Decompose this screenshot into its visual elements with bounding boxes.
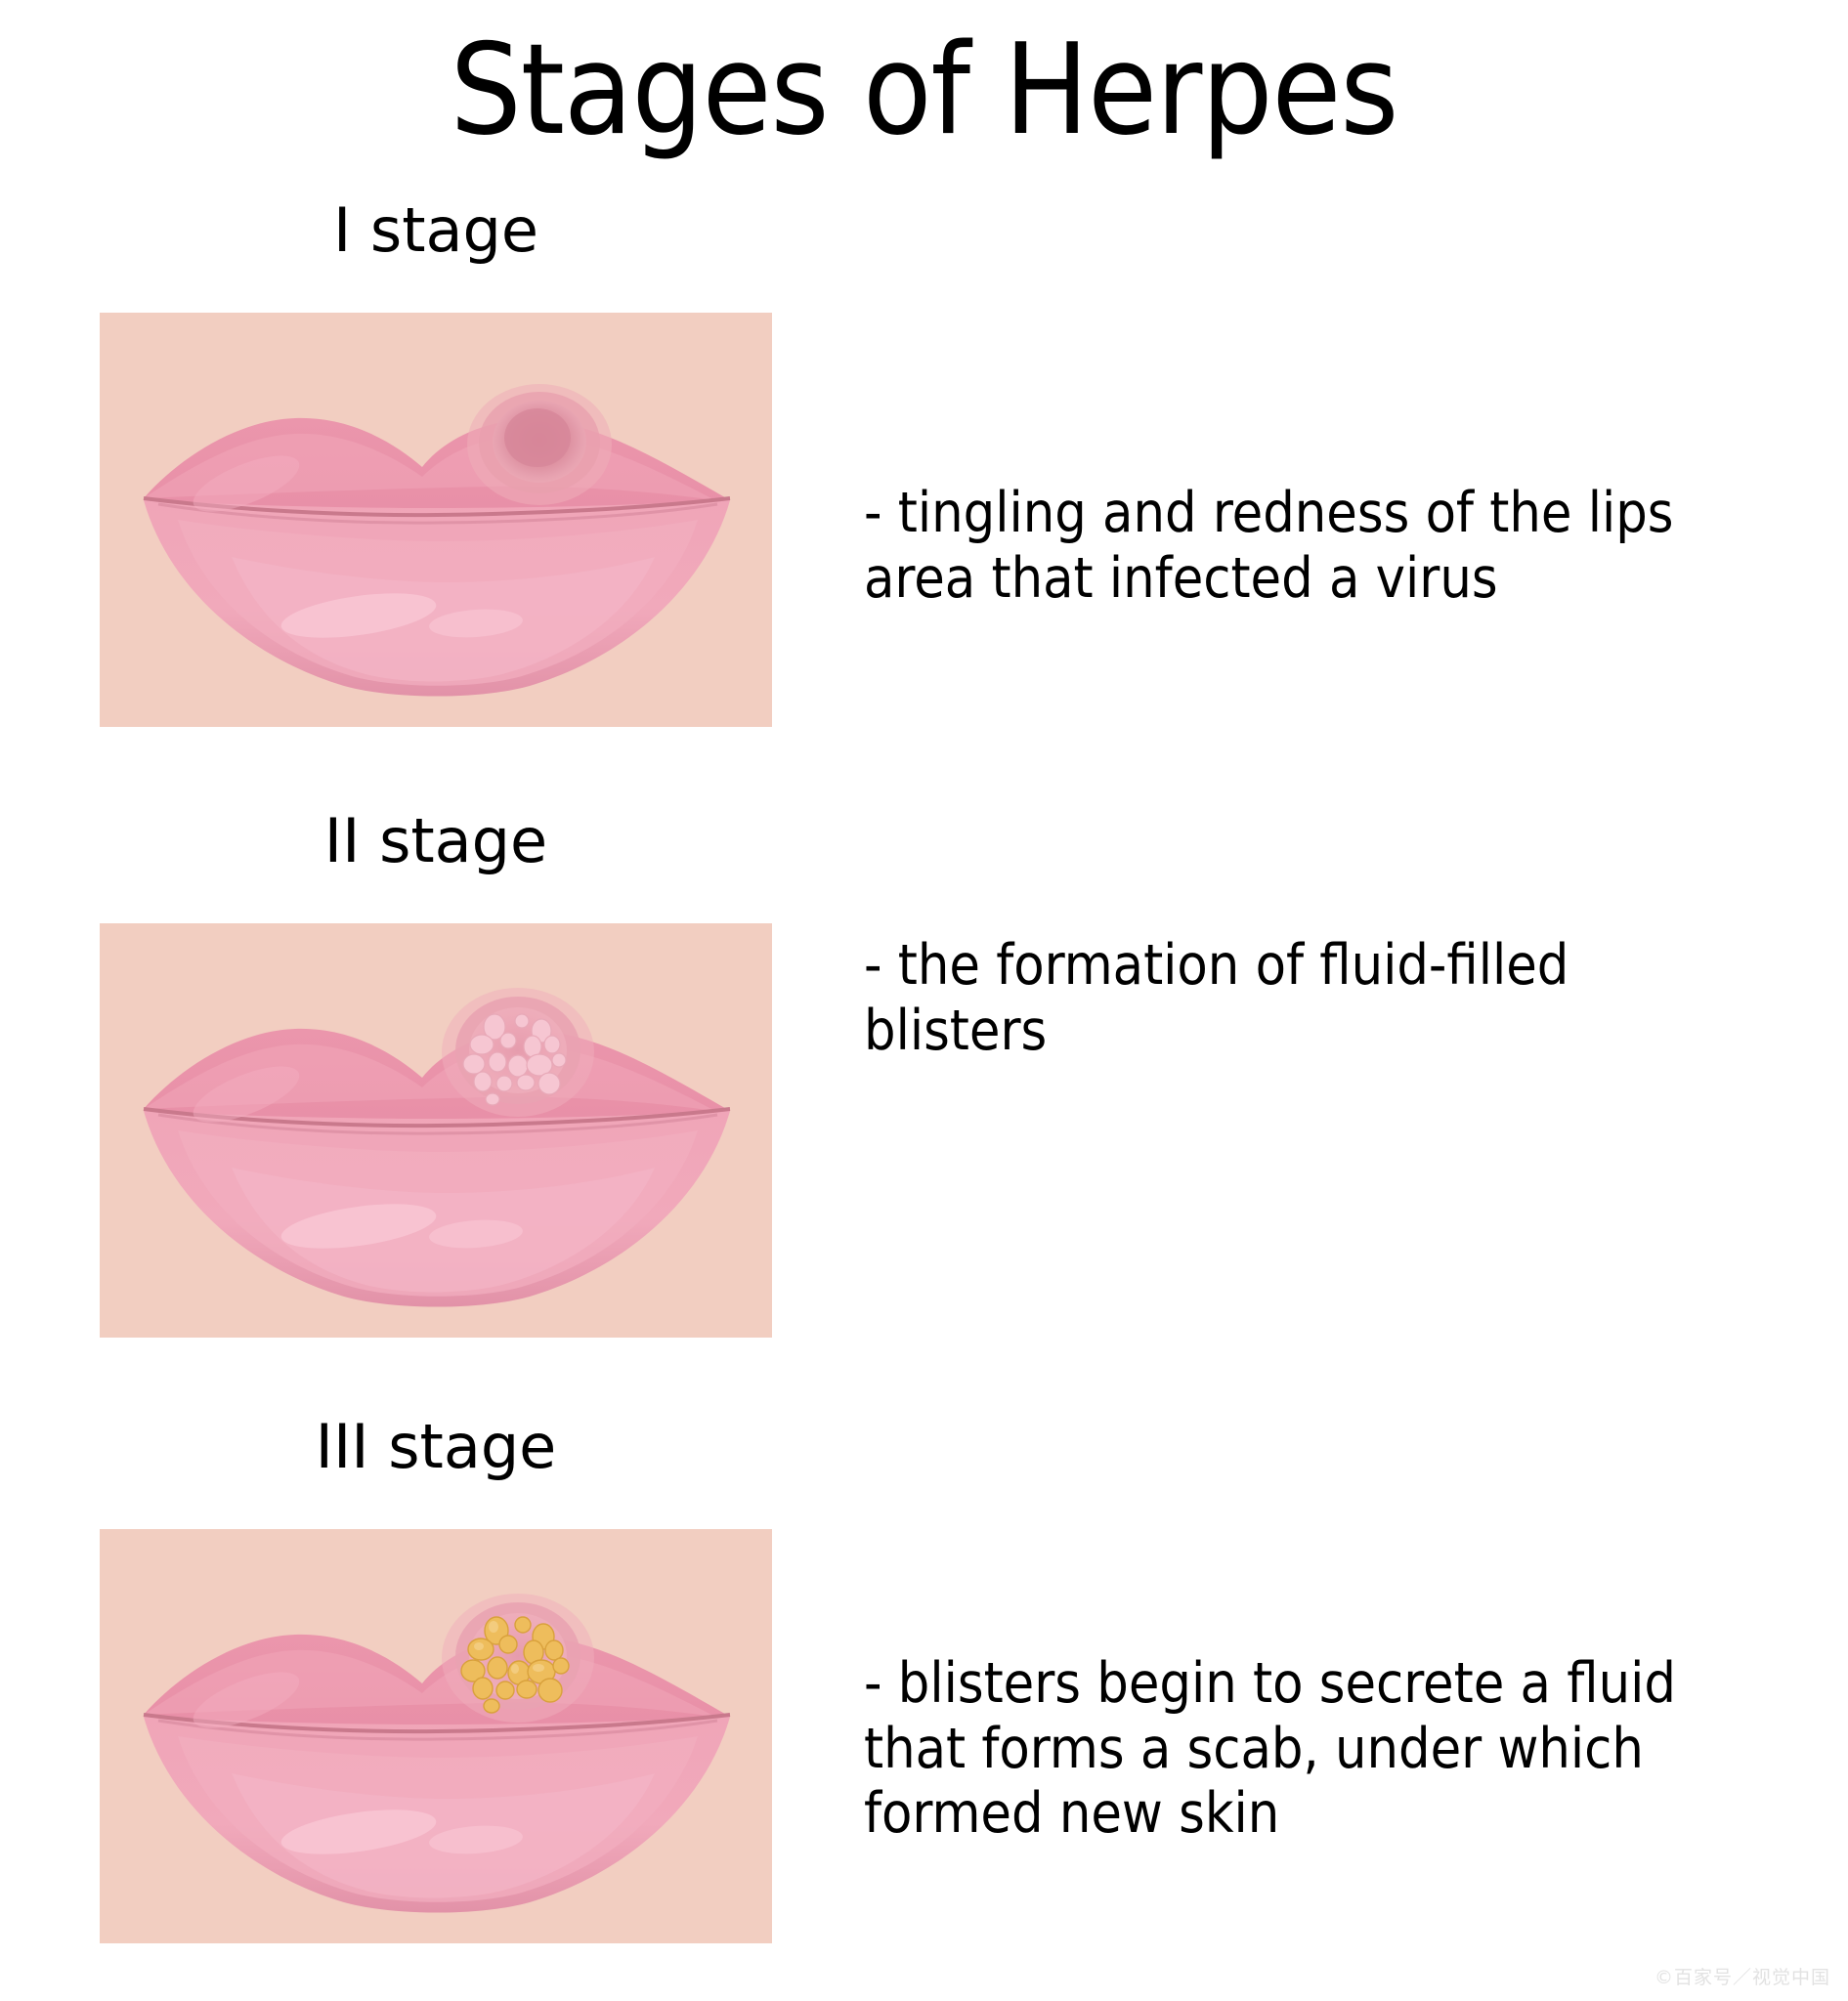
page-title: Stages of Herpes (0, 25, 1848, 156)
stage-label-2: II stage (100, 811, 772, 872)
watermark: ©百家号／视觉中国 (1655, 1963, 1830, 1989)
lips-illustration-1 (100, 313, 772, 727)
stage-image-3 (100, 1529, 772, 1943)
lesion-stage-2 (442, 988, 594, 1117)
lips-illustration-2 (100, 923, 772, 1338)
stage-description-3: - blisters begin to secrete a fluid that… (864, 1651, 1848, 1847)
lesion-stage-1 (467, 384, 612, 505)
stage-label-3: III stage (100, 1417, 772, 1477)
stage-image-2 (100, 923, 772, 1338)
lips-illustration-3 (100, 1529, 772, 1943)
stage-description-1: - tingling and redness of the lips area … (864, 481, 1822, 611)
stage-label-1: I stage (100, 200, 772, 261)
lesion-stage-3 (442, 1594, 594, 1723)
stage-description-2: - the formation of fluid-filled blisters (864, 933, 1822, 1063)
stage-image-1 (100, 313, 772, 727)
